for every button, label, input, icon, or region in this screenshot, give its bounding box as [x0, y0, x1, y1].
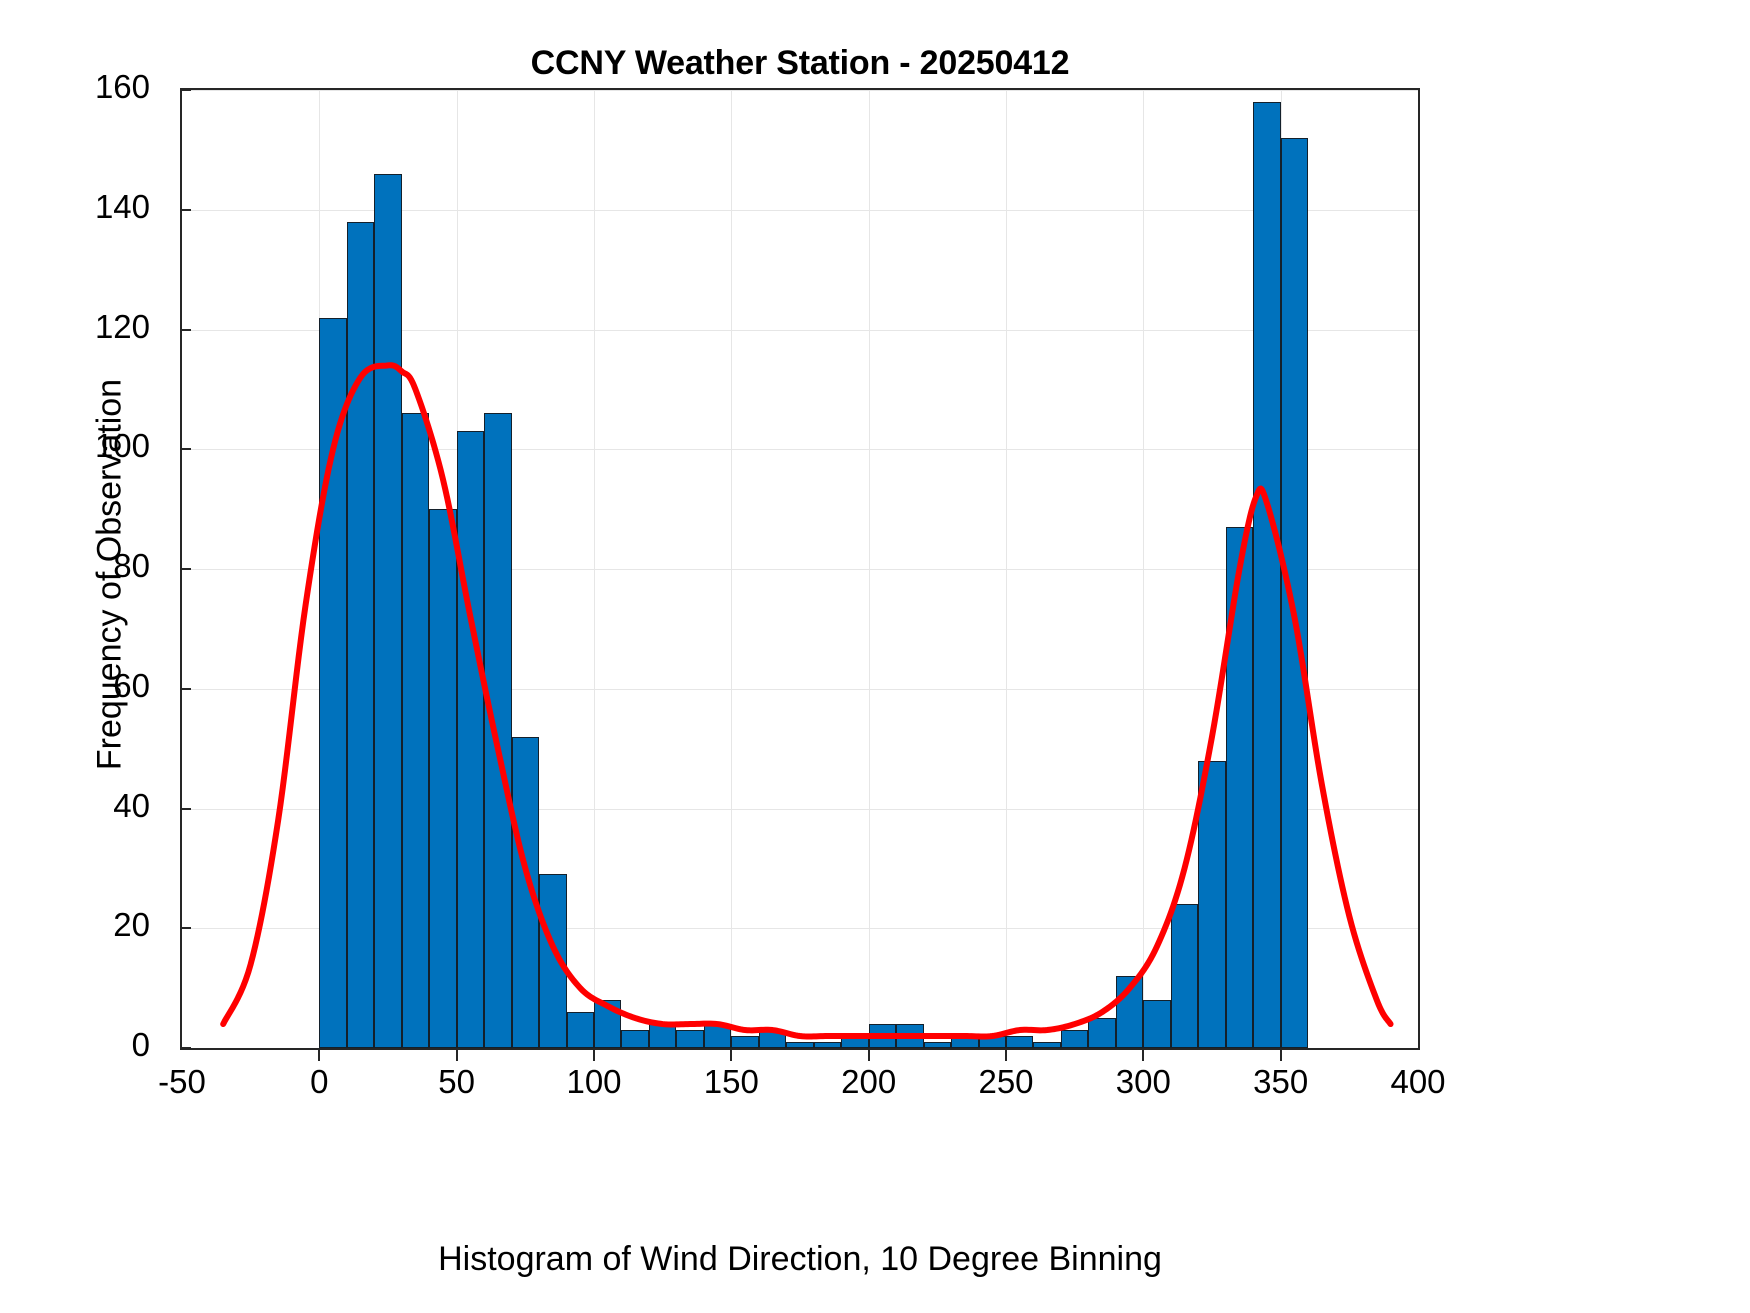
plot-inner	[182, 90, 1418, 1048]
x-tick-label: 250	[926, 1063, 1086, 1101]
y-tick-label: 160	[20, 68, 150, 106]
histogram-bar	[567, 1012, 594, 1048]
histogram-bar	[869, 1024, 896, 1048]
histogram-bar	[621, 1030, 648, 1048]
histogram-bar	[319, 318, 346, 1048]
histogram-bar	[1143, 1000, 1170, 1048]
histogram-bar	[1198, 761, 1225, 1048]
histogram-bar	[512, 737, 539, 1048]
histogram-bar	[896, 1024, 923, 1048]
gridline-vertical	[1006, 90, 1007, 1048]
histogram-bar	[594, 1000, 621, 1048]
plot-area	[180, 88, 1420, 1050]
histogram-bar	[1253, 102, 1280, 1048]
y-tick-mark	[180, 688, 191, 690]
histogram-bar	[429, 509, 456, 1048]
y-tick-mark	[180, 89, 191, 91]
histogram-bar	[1226, 527, 1253, 1048]
y-tick-label: 80	[20, 547, 150, 585]
y-tick-label: 40	[20, 787, 150, 825]
histogram-bar	[676, 1030, 703, 1048]
histogram-bar	[951, 1036, 978, 1048]
histogram-bar	[347, 222, 374, 1048]
histogram-bar	[1061, 1030, 1088, 1048]
gridline-horizontal	[182, 210, 1418, 211]
histogram-bar	[759, 1030, 786, 1048]
histogram-bar	[402, 413, 429, 1048]
histogram-bar	[1088, 1018, 1115, 1048]
x-tick-mark	[1280, 1050, 1282, 1061]
figure-canvas: CCNY Weather Station - 20250412 Frequenc…	[0, 0, 1560, 1313]
histogram-bar	[1116, 976, 1143, 1048]
x-tick-label: 150	[651, 1063, 811, 1101]
gridline-vertical	[869, 90, 870, 1048]
y-tick-label: 120	[20, 308, 150, 346]
x-tick-label: 350	[1201, 1063, 1361, 1101]
x-tick-label: 200	[789, 1063, 949, 1101]
gridline-vertical	[594, 90, 595, 1048]
histogram-bar	[1281, 138, 1308, 1048]
x-tick-mark	[456, 1050, 458, 1061]
y-tick-label: 60	[20, 667, 150, 705]
y-tick-label: 100	[20, 427, 150, 465]
x-tick-label: 50	[377, 1063, 537, 1101]
y-tick-mark	[180, 927, 191, 929]
x-tick-mark	[1005, 1050, 1007, 1061]
histogram-bar	[814, 1042, 841, 1048]
histogram-bar	[374, 174, 401, 1048]
x-tick-label: 100	[514, 1063, 674, 1101]
x-tick-mark	[318, 1050, 320, 1061]
histogram-bar	[924, 1042, 951, 1048]
page-title: CCNY Weather Station - 20250412	[180, 44, 1420, 83]
chart-page: CCNY Weather Station - 20250412 Frequenc…	[0, 0, 1750, 1313]
histogram-bar	[979, 1036, 1006, 1048]
y-tick-label: 140	[20, 188, 150, 226]
y-tick-mark	[180, 209, 191, 211]
y-tick-label: 20	[20, 906, 150, 944]
histogram-bar	[1033, 1042, 1060, 1048]
y-tick-mark	[180, 1047, 191, 1049]
gridline-vertical	[731, 90, 732, 1048]
y-tick-mark	[180, 808, 191, 810]
x-axis-label: Histogram of Wind Direction, 10 Degree B…	[180, 1240, 1420, 1279]
x-tick-mark	[593, 1050, 595, 1061]
histogram-bar	[704, 1024, 731, 1048]
histogram-bar	[457, 431, 484, 1048]
histogram-bar	[786, 1042, 813, 1048]
histogram-bar	[841, 1036, 868, 1048]
x-tick-label: 0	[239, 1063, 399, 1101]
histogram-bar	[1006, 1036, 1033, 1048]
gridline-vertical	[1143, 90, 1144, 1048]
histogram-bar	[484, 413, 511, 1048]
histogram-bar	[649, 1024, 676, 1048]
x-tick-label: 400	[1338, 1063, 1498, 1101]
x-tick-mark	[730, 1050, 732, 1061]
gridline-horizontal	[182, 90, 1418, 91]
histogram-bar	[731, 1036, 758, 1048]
x-tick-mark	[1142, 1050, 1144, 1061]
x-tick-label: 300	[1063, 1063, 1223, 1101]
y-tick-mark	[180, 448, 191, 450]
y-tick-label: 0	[20, 1026, 150, 1064]
histogram-bar	[539, 874, 566, 1048]
y-tick-mark	[180, 568, 191, 570]
y-tick-mark	[180, 329, 191, 331]
histogram-bar	[1171, 904, 1198, 1048]
x-tick-mark	[868, 1050, 870, 1061]
x-tick-label: -50	[102, 1063, 262, 1101]
